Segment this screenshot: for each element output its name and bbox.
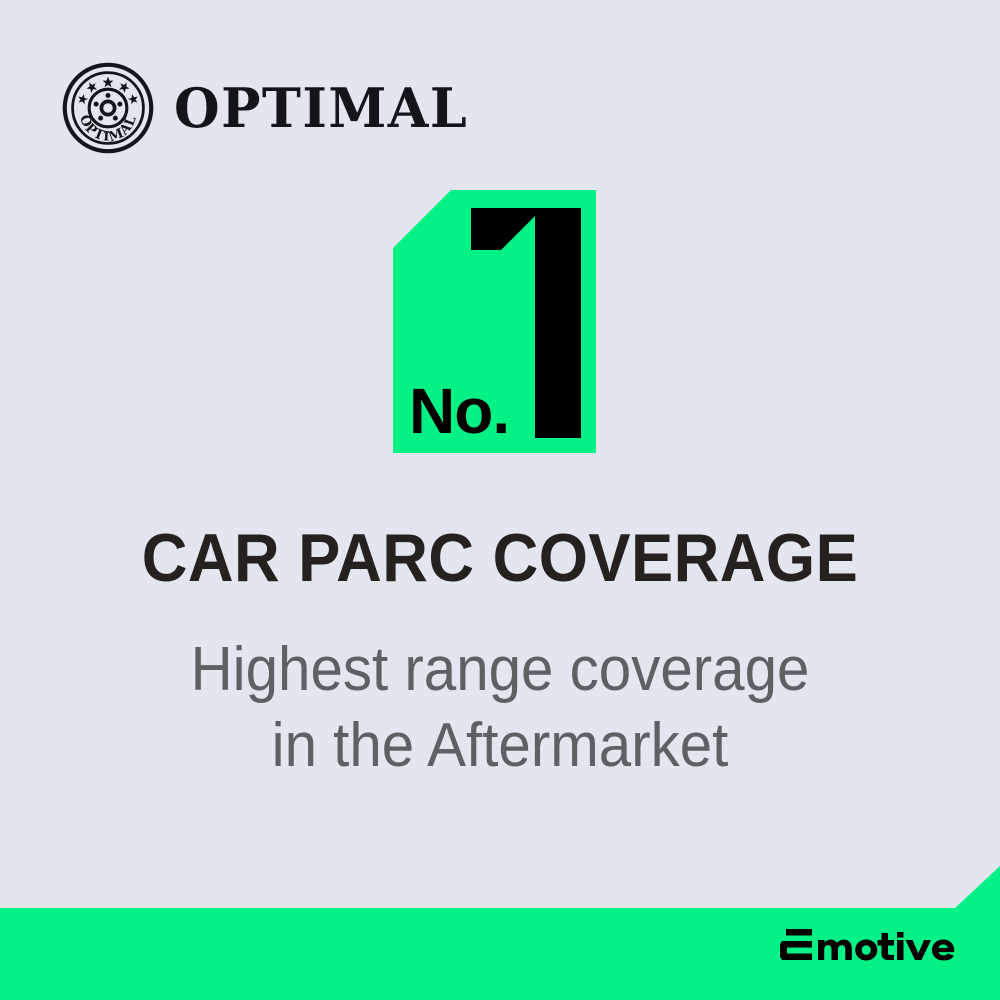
optimal-wheel-emblem-icon: OPTIMAL <box>62 62 154 154</box>
emblem-curved-text: OPTIMAL <box>76 113 140 146</box>
rank-number-glyph <box>471 208 581 438</box>
subtitle-line-2: in the Aftermarket <box>30 708 970 784</box>
poster-canvas: OPTIMAL OPTIMAL No. CAR PARC COVERAGE Hi… <box>0 0 1000 1000</box>
subtitle-line-1: Highest range coverage <box>30 632 970 708</box>
page-title: CAR PARC COVERAGE <box>35 524 965 592</box>
footer-band <box>0 866 1000 1000</box>
rank-badge: No. <box>393 190 596 453</box>
brand-header: OPTIMAL OPTIMAL <box>62 62 477 154</box>
page-subtitle: Highest range coverage in the Aftermarke… <box>30 632 970 784</box>
emotive-logo <box>780 928 965 968</box>
brand-wordmark: OPTIMAL <box>174 81 468 135</box>
